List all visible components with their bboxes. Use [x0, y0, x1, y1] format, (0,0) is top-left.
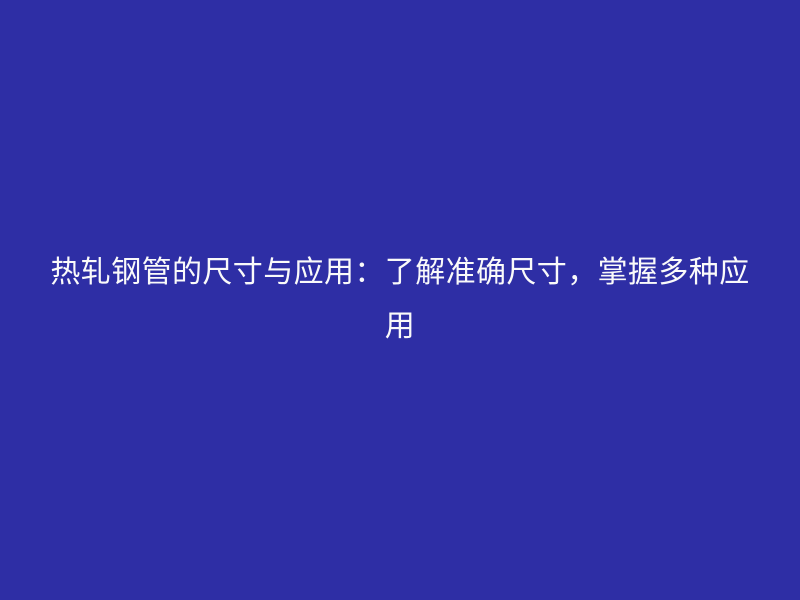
title-card: 热轧钢管的尺寸与应用：了解准确尺寸，掌握多种应用: [0, 0, 800, 600]
title-text-block: 热轧钢管的尺寸与应用：了解准确尺寸，掌握多种应用: [50, 246, 750, 354]
page-title: 热轧钢管的尺寸与应用：了解准确尺寸，掌握多种应用: [50, 246, 750, 354]
